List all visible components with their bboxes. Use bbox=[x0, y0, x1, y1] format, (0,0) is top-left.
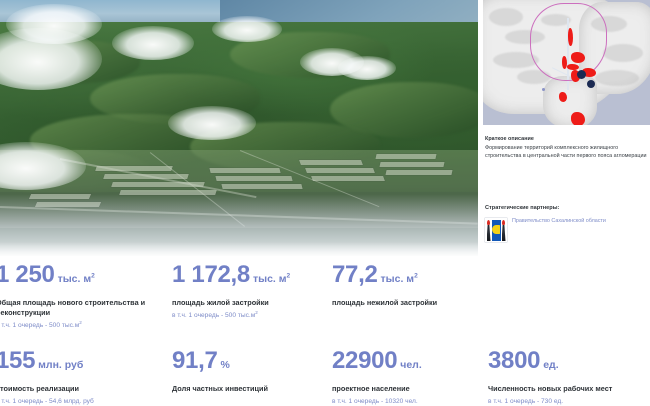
stat-implementation-cost: 155млн. руб стоимость реализации в т.ч. … bbox=[0, 348, 94, 406]
stat-value: 77,2тыс. м2 bbox=[332, 262, 437, 292]
stat-number: 22900 bbox=[332, 347, 397, 374]
map-city-marker bbox=[587, 80, 595, 88]
stat-label: Численность новых рабочих мест bbox=[488, 384, 612, 394]
stat-value: 155млн. руб bbox=[0, 348, 94, 378]
map-zone bbox=[559, 92, 567, 102]
stat-label: Общая площадь нового строительства и рек… bbox=[0, 298, 148, 318]
stat-label: площадь жилой застройки bbox=[172, 298, 290, 308]
stat-label: площадь нежилой застройки bbox=[332, 298, 437, 308]
stat-unit: % bbox=[221, 359, 230, 371]
stat-unit: тыс. м2 bbox=[253, 273, 290, 285]
stat-value: 22900чел. bbox=[332, 348, 422, 378]
stat-number: 3800 bbox=[488, 347, 540, 374]
stat-label: Доля частных инвестиций bbox=[172, 384, 268, 394]
stat-projected-population: 22900чел. проектное население в т.ч. 1 о… bbox=[332, 348, 422, 406]
stat-number: 91,7 bbox=[172, 347, 218, 374]
stat-new-jobs: 3800ед. Численность новых рабочих мест в… bbox=[488, 348, 612, 406]
map-city-marker bbox=[577, 70, 586, 79]
map-secondary-marker bbox=[542, 88, 545, 91]
sakhalin-coat-of-arms-icon bbox=[485, 218, 507, 242]
stat-note: в т.ч. 1 очередь - 10320 чел. bbox=[332, 397, 422, 406]
stat-label: проектное население bbox=[332, 384, 422, 394]
stat-note: в т.ч. 1 очередь - 500 тыс.м2 bbox=[172, 311, 290, 320]
stat-value: 1 172,8тыс. м2 bbox=[172, 262, 290, 292]
description-block: Краткое описание Формирование территорий… bbox=[485, 136, 648, 160]
partners-block: Стратегические партнеры: Правительство С… bbox=[485, 205, 648, 242]
photo-bottom-fade bbox=[0, 242, 478, 256]
stat-value: 3800ед. bbox=[488, 348, 612, 378]
stat-residential-area: 1 172,8тыс. м2 площадь жилой застройки в… bbox=[172, 262, 290, 320]
map-zone bbox=[571, 52, 585, 63]
region-map[interactable] bbox=[483, 0, 650, 125]
stat-unit: чел. bbox=[400, 359, 422, 371]
partner-name: Правительство Сахалинской области bbox=[512, 218, 606, 225]
stat-number: 1 172,8 bbox=[172, 261, 250, 288]
stat-total-construction-area: 1 250тыс. м2 Общая площадь нового строит… bbox=[0, 262, 148, 330]
partners-title: Стратегические партнеры: bbox=[485, 205, 648, 211]
description-title: Краткое описание bbox=[485, 136, 648, 142]
stat-note: в т.ч. 1 очередь - 730 ед. bbox=[488, 397, 612, 406]
stat-number: 1 250 bbox=[0, 261, 55, 288]
statistics-panel: 1 250тыс. м2 Общая площадь нового строит… bbox=[0, 256, 650, 406]
stat-private-investment-share: 91,7% Доля частных инвестиций bbox=[172, 348, 268, 397]
partner-item[interactable]: Правительство Сахалинской области bbox=[485, 218, 648, 242]
stat-unit: млн. руб bbox=[38, 359, 83, 371]
stat-unit: тыс. м2 bbox=[381, 273, 418, 285]
stat-label: стоимость реализации bbox=[0, 384, 94, 394]
stat-non-residential-area: 77,2тыс. м2 площадь нежилой застройки bbox=[332, 262, 437, 311]
stat-value: 1 250тыс. м2 bbox=[0, 262, 148, 292]
map-zone bbox=[571, 112, 585, 125]
stat-number: 77,2 bbox=[332, 261, 378, 288]
map-zone bbox=[568, 28, 573, 46]
stat-number: 155 bbox=[0, 347, 35, 374]
description-text: Формирование территорий комплексного жил… bbox=[485, 144, 648, 160]
aerial-masterplan-photo bbox=[0, 0, 478, 256]
stat-unit: ед. bbox=[543, 359, 558, 371]
stat-value: 91,7% bbox=[172, 348, 268, 378]
stat-note: в т.ч. 1 очередь - 500 тыс.м2 bbox=[0, 321, 148, 330]
stat-note: в т.ч. 1 очередь - 54,6 млрд. руб bbox=[0, 397, 94, 406]
stat-unit: тыс. м2 bbox=[58, 273, 95, 285]
